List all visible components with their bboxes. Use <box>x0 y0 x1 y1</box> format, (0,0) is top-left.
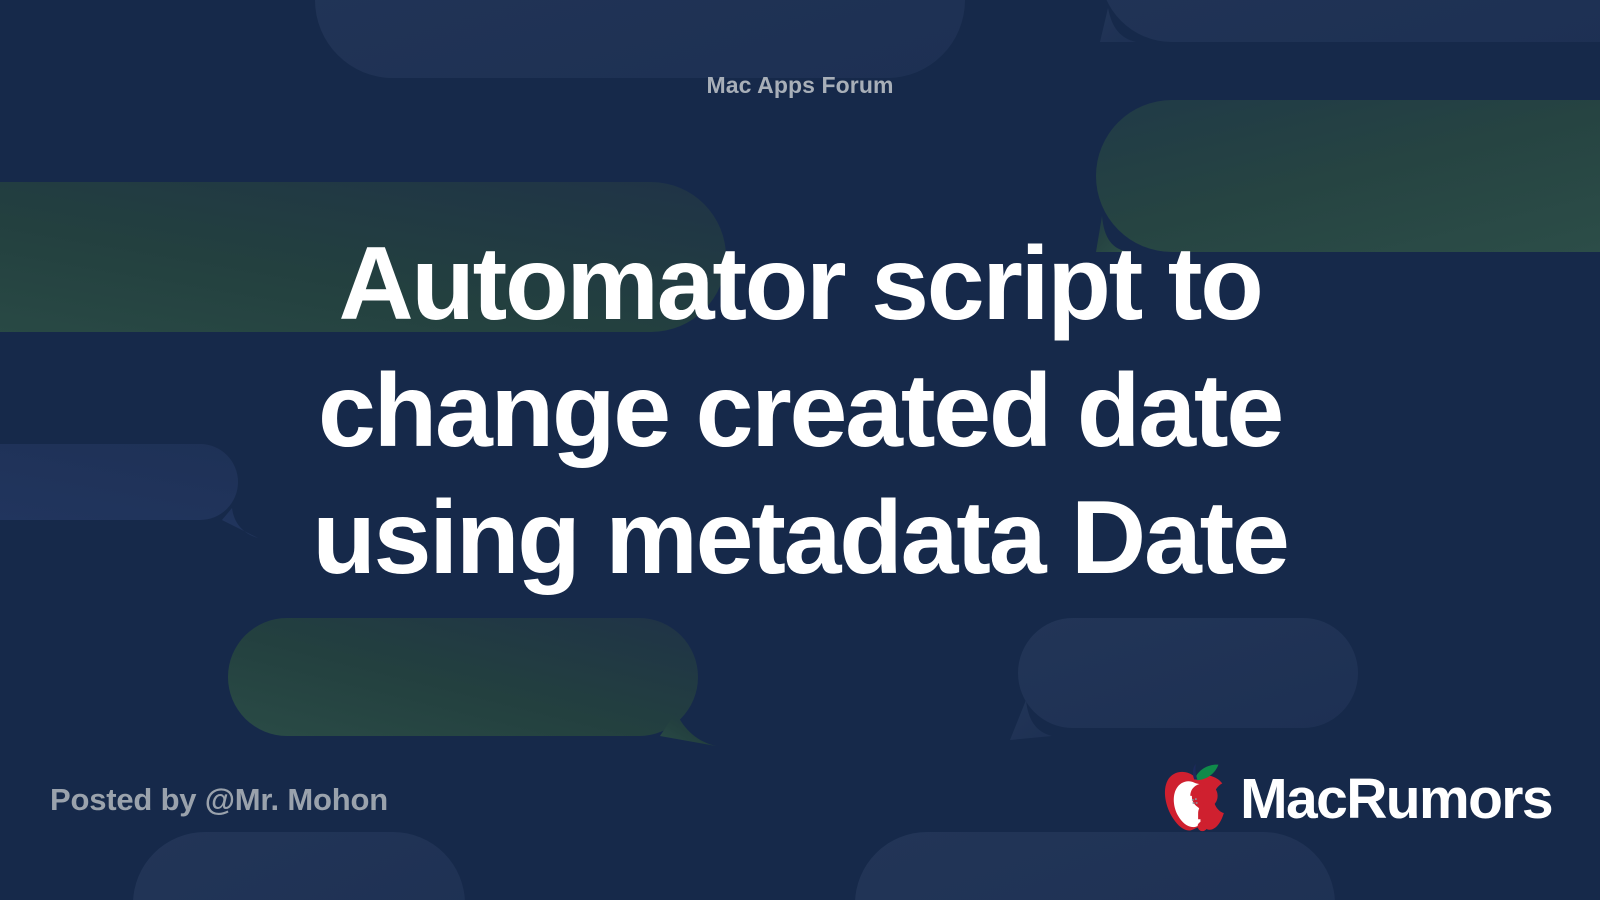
page-title: Automator script to change created date … <box>235 221 1365 602</box>
card-content: Mac Apps Forum Automator script to chang… <box>0 0 1600 900</box>
posted-by-label: Posted by @Mr. Mohon <box>50 784 388 815</box>
macrumors-apple-logo-icon <box>1156 760 1234 838</box>
macrumors-brand-lockup[interactable]: MacRumors <box>1156 760 1552 838</box>
share-card: Mac Apps Forum Automator script to chang… <box>0 0 1600 900</box>
title-container: Automator script to change created date … <box>0 63 1600 760</box>
card-footer: Posted by @Mr. Mohon <box>0 760 1600 900</box>
macrumors-wordmark: MacRumors <box>1240 771 1552 828</box>
